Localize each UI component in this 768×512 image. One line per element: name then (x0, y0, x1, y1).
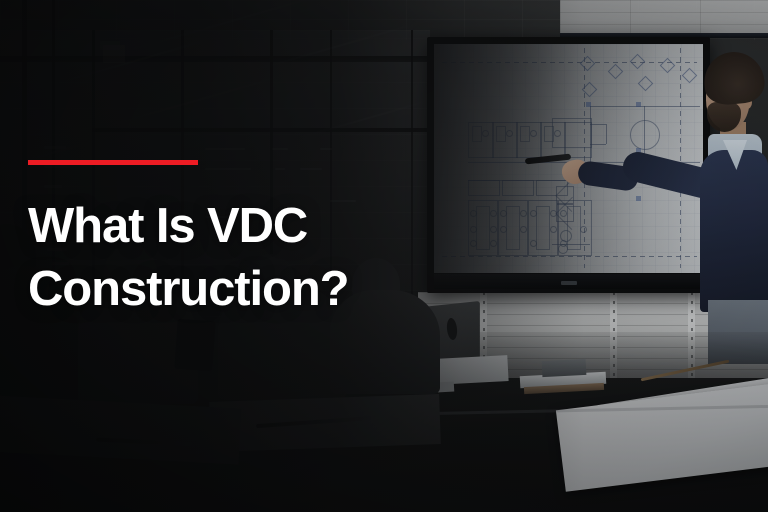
page-title-line-2: Construction? (28, 258, 448, 321)
hero-banner: What Is VDC Construction? (0, 0, 768, 512)
page-title-line-1: What Is VDC (28, 195, 448, 258)
hero-content: What Is VDC Construction? (28, 160, 448, 320)
red-accent-rule (28, 160, 198, 165)
page-title: What Is VDC Construction? (28, 195, 448, 320)
